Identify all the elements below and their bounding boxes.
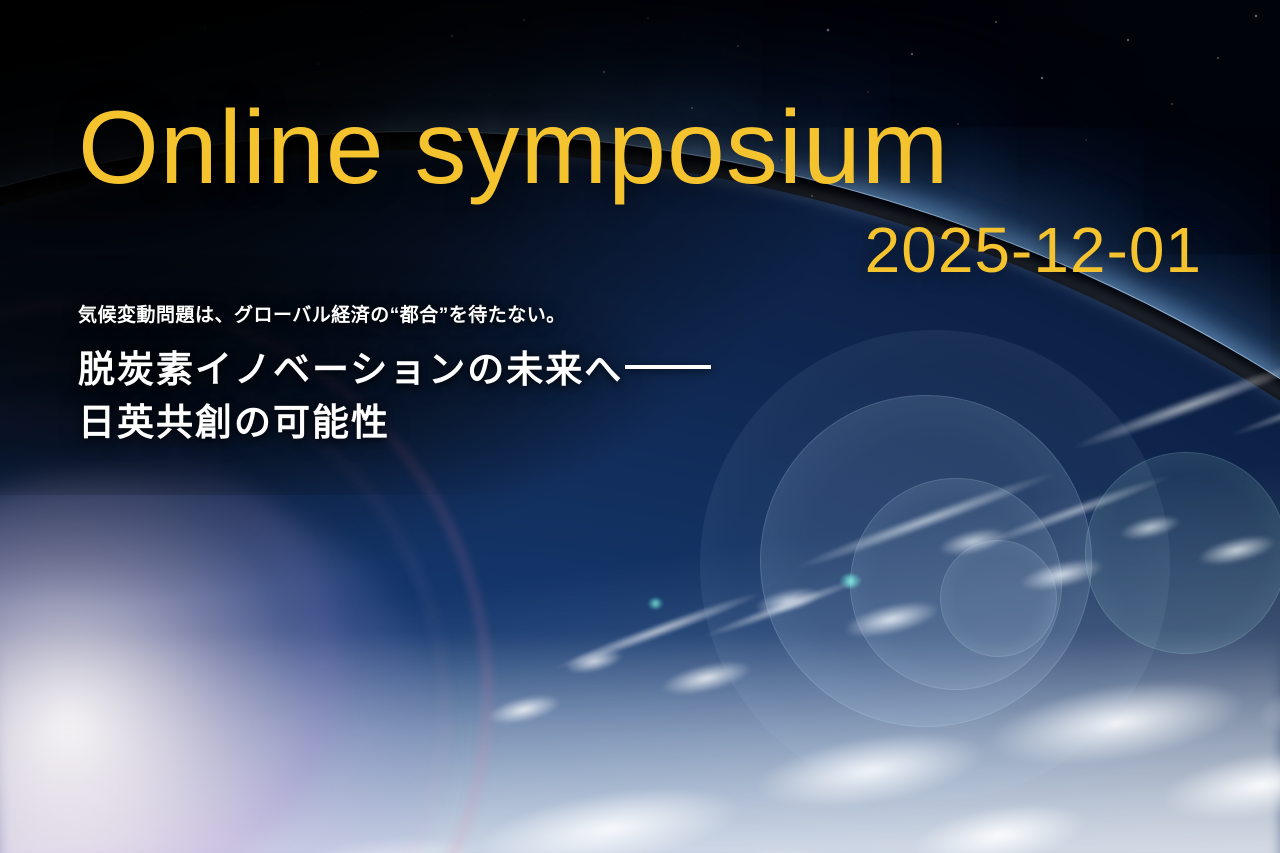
event-headline: 脱炭素イノベーションの未来へ 日英共創の可能性 (78, 344, 711, 449)
headline-line-1: 脱炭素イノベーションの未来へ (78, 344, 711, 397)
symposium-banner: Online symposium 2025-12-01 気候変動問題は、グローバ… (0, 0, 1280, 853)
em-dash-rule (625, 365, 711, 369)
event-title: Online symposium (78, 96, 949, 200)
event-date: 2025-12-01 (865, 218, 1202, 282)
headline-line-2: 日英共創の可能性 (78, 397, 711, 450)
headline-line-1-text: 脱炭素イノベーションの未来へ (78, 349, 623, 390)
event-lede: 気候変動問題は、グローバル経済の“都合”を待たない。 (78, 300, 566, 327)
banner-content: Online symposium 2025-12-01 気候変動問題は、グローバ… (0, 0, 1280, 853)
